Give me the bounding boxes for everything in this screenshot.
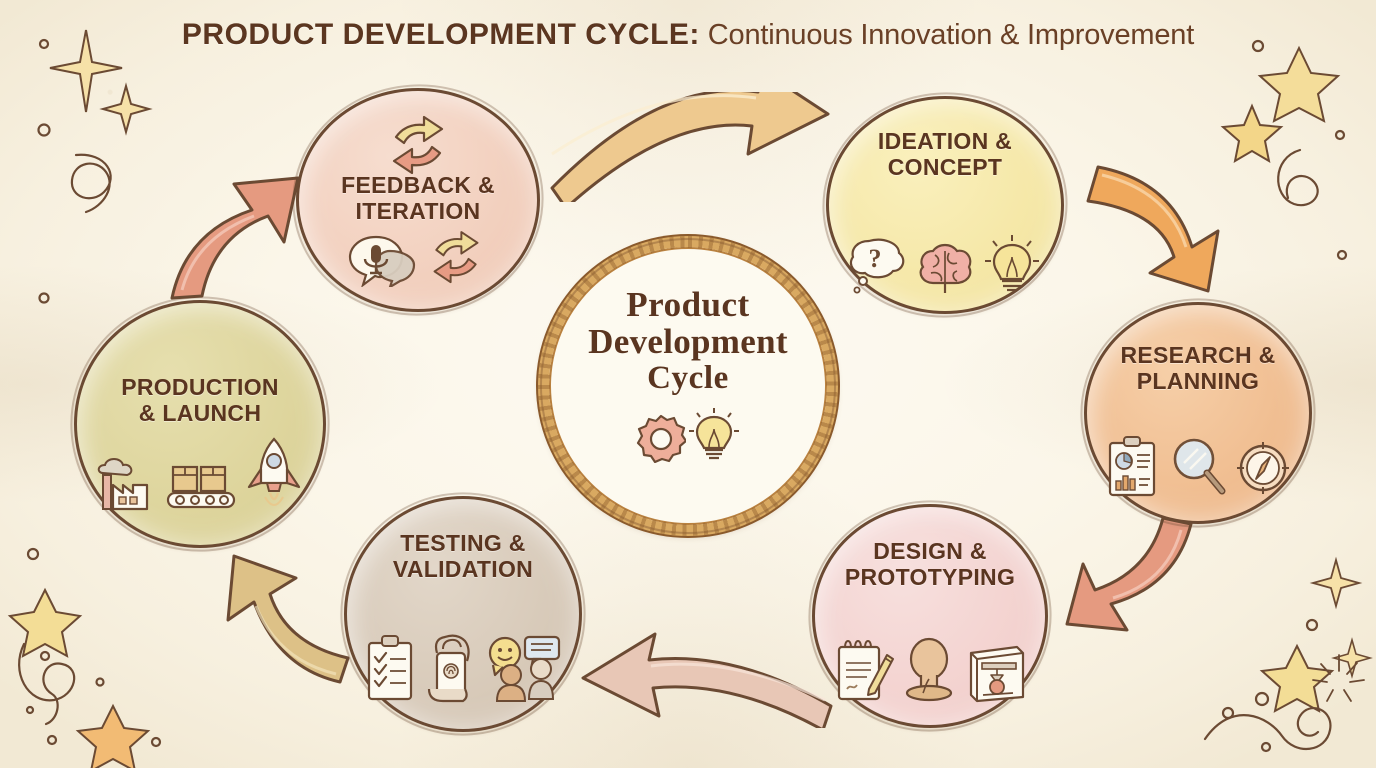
stage-production-launch[interactable]: PRODUCTION & LAUNCH xyxy=(74,300,326,548)
svg-text:?: ? xyxy=(869,244,882,273)
arrow-ideation-to-research xyxy=(1080,155,1230,300)
small-circle-icon xyxy=(1256,693,1268,705)
stage-ideation-label: IDEATION & CONCEPT xyxy=(878,129,1012,181)
hub-icons xyxy=(636,407,740,463)
thought-bubble-question-icon: ? xyxy=(849,235,909,295)
small-circle-icon xyxy=(1336,131,1344,139)
stage-design-icons xyxy=(815,635,1045,705)
arrow-feedback-to-ideation xyxy=(540,92,840,202)
stage-ideation-concept[interactable]: IDEATION & CONCEPT ? xyxy=(826,96,1064,314)
small-circle-icon xyxy=(152,738,160,746)
stage-design-label: DESIGN & PROTOTYPING xyxy=(845,539,1015,591)
five-point-star-icon xyxy=(1223,106,1281,161)
hub-line-1: Product xyxy=(588,287,788,322)
swirl-icon xyxy=(19,644,74,724)
stage-research-planning[interactable]: RESEARCH & PLANNING xyxy=(1084,302,1312,524)
checklist-clipboard-icon xyxy=(363,631,417,703)
lightbulb-icon xyxy=(688,407,740,463)
stamp-icon xyxy=(901,635,957,705)
hand-phone-icon xyxy=(423,627,479,703)
stage-testing-icons xyxy=(347,627,579,703)
hub-line-3: Cycle xyxy=(588,362,788,395)
small-circle-icon xyxy=(27,707,33,713)
stage-testing-label: TESTING & VALIDATION xyxy=(393,531,533,583)
clipboard-chart-icon xyxy=(1104,433,1162,499)
swirl-icon xyxy=(72,155,111,212)
four-point-star-icon xyxy=(1313,560,1359,606)
hub-center: Product Development Cycle xyxy=(538,236,838,536)
small-circle-icon xyxy=(28,549,38,559)
five-point-star-icon xyxy=(1260,48,1338,121)
3d-printer-icon xyxy=(963,637,1027,705)
four-point-star-icon xyxy=(1334,640,1370,676)
stage-feedback-bottom-icons xyxy=(299,229,537,287)
stage-feedback-top-icons xyxy=(299,115,537,177)
stage-production-label: PRODUCTION & LAUNCH xyxy=(121,375,279,427)
small-circle-icon xyxy=(1307,620,1317,630)
arrow-research-to-design xyxy=(1045,512,1205,652)
small-circle-icon xyxy=(1338,251,1346,259)
hub-text: Product Development Cycle xyxy=(588,287,788,395)
small-circle-icon xyxy=(1223,708,1233,718)
arrow-design-to-testing xyxy=(575,618,845,728)
burst-icon xyxy=(1313,655,1364,701)
notepad-pencil-icon xyxy=(833,635,895,705)
stage-production-icons xyxy=(77,435,323,515)
cycle-arrows-icon xyxy=(422,229,490,287)
brain-icon xyxy=(915,237,977,295)
small-circle-icon xyxy=(41,652,49,660)
five-point-star-icon xyxy=(10,590,80,656)
cycle-arrows-icon xyxy=(380,115,456,177)
spiral-icon xyxy=(1205,708,1330,749)
five-point-star-icon xyxy=(78,706,148,768)
diagram-canvas: PRODUCT DEVELOPMENT CYCLE: Continuous In… xyxy=(0,0,1376,768)
page-title: PRODUCT DEVELOPMENT CYCLE: Continuous In… xyxy=(0,18,1376,52)
hub-line-2: Development xyxy=(588,324,788,359)
stage-feedback-iteration[interactable]: FEEDBACK & ITERATION xyxy=(296,88,540,312)
stage-research-label: RESEARCH & PLANNING xyxy=(1120,343,1275,395)
factory-icon xyxy=(95,443,159,515)
conveyor-boxes-icon xyxy=(165,453,237,515)
microphone-speech-bubble-icon xyxy=(346,231,416,287)
gear-icon xyxy=(636,413,686,463)
compass-icon xyxy=(1234,437,1292,499)
stage-feedback-label: FEEDBACK & ITERATION xyxy=(341,173,495,225)
five-point-star-icon xyxy=(1262,646,1332,711)
rocket-icon xyxy=(243,435,305,515)
page-title-main: PRODUCT DEVELOPMENT CYCLE: xyxy=(182,18,700,51)
small-circle-icon xyxy=(48,736,56,744)
magnifier-icon xyxy=(1168,433,1228,499)
stage-design-prototyping[interactable]: DESIGN & PROTOTYPING xyxy=(812,504,1048,728)
small-circle-icon xyxy=(1262,743,1270,751)
stage-ideation-icons: ? xyxy=(829,233,1061,295)
stage-research-icons xyxy=(1087,433,1309,499)
stage-testing-validation[interactable]: TESTING & VALIDATION xyxy=(344,496,582,732)
small-circle-icon xyxy=(97,679,104,686)
page-title-sub: Continuous Innovation & Improvement xyxy=(700,19,1194,51)
small-circle-icon xyxy=(40,294,49,303)
four-point-star-icon xyxy=(103,86,149,132)
lightbulb-icon xyxy=(983,233,1041,295)
arrow-production-to-feedback xyxy=(158,150,313,310)
arrow-testing-to-production xyxy=(190,540,355,695)
small-circle-icon xyxy=(39,125,50,136)
swirl-icon xyxy=(1278,150,1318,205)
smiley-people-feedback-icon xyxy=(485,631,563,703)
